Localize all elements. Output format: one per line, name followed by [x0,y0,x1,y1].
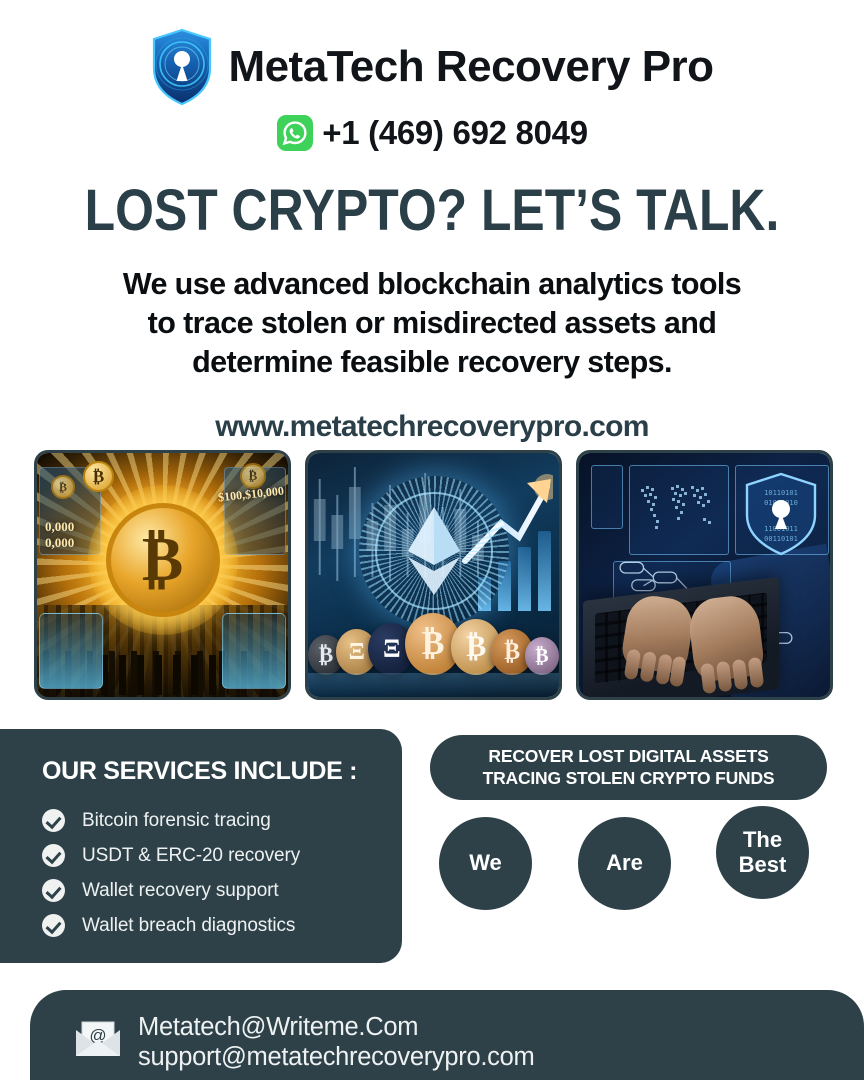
email-support[interactable]: support@metatechrecoverypro.com [138,1042,534,1072]
flyer-page: MetaTech Recovery Pro +1 (469) 692 8049 … [0,0,864,1080]
promo-banner-line-1: RECOVER LOST DIGITAL ASSETS [483,746,775,768]
promo-banner: RECOVER LOST DIGITAL ASSETS TRACING STOL… [430,735,827,800]
price-label: 0,000 [45,519,74,535]
phone-number[interactable]: +1 (469) 692 8049 [322,114,588,152]
phone-row[interactable]: +1 (469) 692 8049 [0,114,864,152]
email-primary[interactable]: Metatech@Writeme.Com [138,1012,534,1042]
list-item: Wallet recovery support [42,873,382,908]
list-item: Wallet breach diagnostics [42,908,382,943]
floor-reflection [308,673,559,697]
page-title: LOST CRYPTO? LET’S TALK. [60,182,803,240]
service-label: Wallet recovery support [82,880,279,902]
envelope-at-icon: @ [72,1016,124,1060]
services-box: OUR SERVICES INCLUDE : Bitcoin forensic … [0,729,402,963]
promo-circles: We Are The Best [430,812,830,917]
list-item: USDT & ERC-20 recovery [42,838,382,873]
header: MetaTech Recovery Pro +1 (469) 692 8049 [0,28,864,152]
check-circle-icon [42,809,65,832]
services-title: OUR SERVICES INCLUDE : [42,757,357,786]
coin-row: ₿ Ξ Ξ ₿ ₿ ₿ ₿ [308,591,559,675]
subheading-line-3: determine feasible recovery steps. [0,343,864,382]
subheading: We use advanced blockchain analytics too… [0,265,864,382]
small-coin-icon: ₿ [83,461,114,492]
service-label: USDT & ERC-20 recovery [82,845,300,867]
services-list: Bitcoin forensic tracing USDT & ERC-20 r… [42,803,382,943]
cybersecurity-laptop-image: 10110101 01011010 11001011 00110101 [576,450,833,700]
promo-circle-the-best-label: The Best [733,828,793,877]
promo-circle-are: Are [578,817,671,910]
check-circle-icon [42,914,65,937]
check-circle-icon [42,879,65,902]
crypto-coin-icon: ₿ [525,637,559,675]
promo-circle-the-best: The Best [716,806,809,899]
footer: @ Metatech@Writeme.Com support@metatechr… [30,990,864,1080]
footer-emails[interactable]: Metatech@Writeme.Com support@metatechrec… [138,1012,534,1072]
list-item: Bitcoin forensic tracing [42,803,382,838]
website-url[interactable]: www.metatechrecoverypro.com [0,410,864,444]
whatsapp-icon[interactable] [276,114,314,152]
price-label: 0,000 [45,535,74,551]
check-circle-icon [42,844,65,867]
promo-banner-text: RECOVER LOST DIGITAL ASSETS TRACING STOL… [483,746,775,790]
brand-row: MetaTech Recovery Pro [0,28,864,106]
service-label: Bitcoin forensic tracing [82,810,271,832]
holo-kiosk-right [222,613,286,689]
subheading-line-2: to trace stolen or misdirected assets an… [0,304,864,343]
bitcoin-symbol: ₿ [142,529,183,591]
ethereum-logo-icon [402,503,466,599]
brand-title: MetaTech Recovery Pro [228,45,713,89]
promo-circle-we: We [439,817,532,910]
small-coin-icon: ₿ [51,475,75,499]
service-label: Wallet breach diagnostics [82,915,295,937]
shield-keyhole-icon [150,28,214,106]
ethereum-market-chart-image: ₿ Ξ Ξ ₿ ₿ ₿ ₿ [305,450,562,700]
crowd-silhouette-front [97,655,228,695]
promo-banner-line-2: TRACING STOLEN CRYPTO FUNDS [483,768,775,790]
bitcoin-golden-city-image: ₿ ₿ ₿ ₿ 0,000 0,000 $100,$10,000 [34,450,291,700]
bitcoin-coin-icon: ₿ [106,503,220,617]
holo-kiosk-left [39,613,103,689]
subheading-line-1: We use advanced blockchain analytics too… [0,265,864,304]
image-gallery: ₿ ₿ ₿ ₿ 0,000 0,000 $100,$10,000 [34,450,834,700]
